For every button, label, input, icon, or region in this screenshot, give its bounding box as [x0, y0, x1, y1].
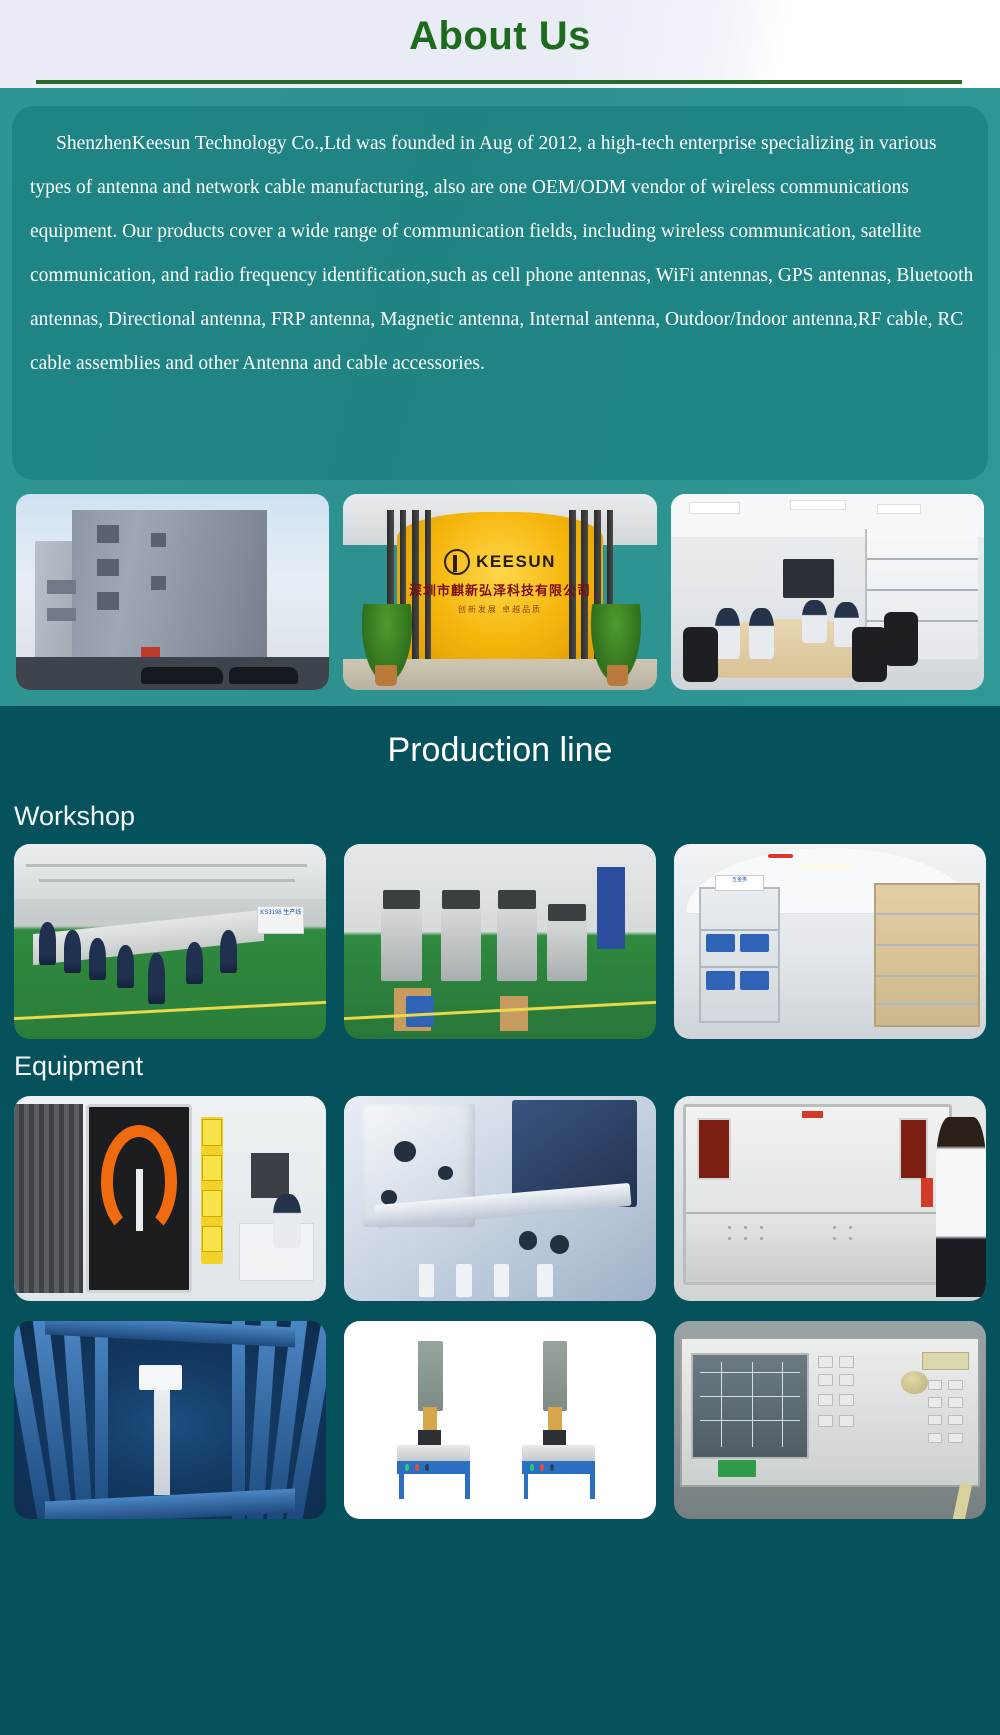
keesun-logo: KEESUN [343, 549, 656, 575]
meeting-room-photo [671, 494, 984, 690]
about-section: ShenzhenKeesun Technology Co.,Ltd was fo… [0, 88, 1000, 706]
production-line-section: Production line Workshop [0, 706, 1000, 1735]
production-line-title: Production line [0, 731, 1000, 770]
company-building-photo [16, 494, 329, 690]
warehouse-shelving-photo: 五金类 [674, 844, 986, 1039]
anechoic-chamber-photo [14, 1096, 326, 1301]
assembly-line-sign: KS3198 生产线 [257, 906, 304, 933]
company-lobby-photo: KEESUN 深圳市麒新弘泽科技有限公司 创新发展 卓越品质 [343, 494, 656, 690]
shelf-label: 五金类 [715, 875, 765, 891]
assembly-line-photo: KS3198 生产线 [14, 844, 326, 1039]
equipment-label: Equipment [14, 1051, 143, 1082]
network-analyzer-photo [674, 1321, 986, 1519]
about-text-card: ShenzhenKeesun Technology Co.,Ltd was fo… [12, 106, 988, 480]
ultrasonic-welder-photo [344, 1321, 656, 1519]
page-title: About Us [0, 14, 1000, 59]
blue-anechoic-chamber-photo [14, 1321, 326, 1519]
about-photo-row: KEESUN 深圳市麒新弘泽科技有限公司 创新发展 卓越品质 [16, 494, 984, 690]
equipment-photo-row-2 [14, 1321, 986, 1519]
keesun-brand-text: KEESUN [476, 552, 556, 571]
about-paragraph: ShenzhenKeesun Technology Co.,Ltd was fo… [30, 122, 974, 386]
keesun-mark-icon [444, 549, 470, 575]
workshop-photo-row: KS3198 生产线 [14, 844, 986, 1039]
machines-photo [344, 844, 656, 1039]
cnc-machine-photo [674, 1096, 986, 1301]
workshop-label: Workshop [14, 801, 135, 832]
page-header: About Us [0, 0, 1000, 88]
about-us-page: About Us ShenzhenKeesun Technology Co.,L… [0, 0, 1000, 1735]
equipment-photo-row-1 [14, 1096, 986, 1301]
precision-mold-photo [344, 1096, 656, 1301]
company-name-chinese: 深圳市麒新弘泽科技有限公司 [343, 580, 656, 599]
header-divider [36, 80, 962, 84]
